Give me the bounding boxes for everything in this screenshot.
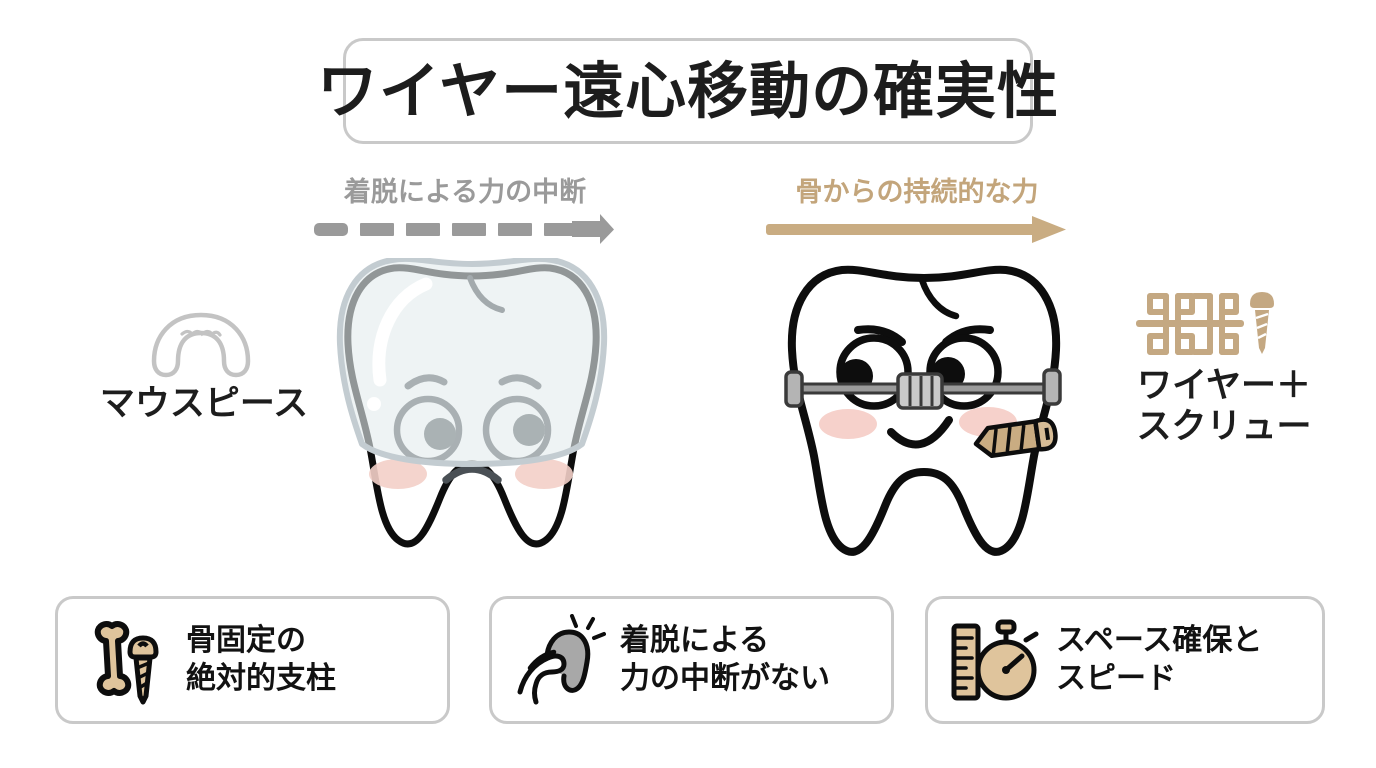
- bracket-wire-screw-icon: [1136, 286, 1276, 362]
- benefit-card-1-text: 骨固定の 絶対的支柱: [186, 622, 336, 699]
- benefit-card-3[interactable]: スペース確保と スピード: [925, 596, 1325, 724]
- bone-screw-icon: [80, 614, 172, 706]
- benefit-card-1-line-1: 骨固定の: [186, 622, 336, 660]
- left-arrow-label: 着脱による力の中断: [300, 178, 630, 208]
- benefit-card-2[interactable]: 着脱による 力の中断がない: [489, 596, 894, 724]
- benefit-card-3-line-1: スペース確保と: [1056, 622, 1262, 660]
- infographic-canvas: ワイヤー遠心移動の確実性 着脱による力の中断 骨からの持続的な力: [0, 0, 1376, 768]
- ruler-stopwatch-icon: [950, 614, 1042, 706]
- benefit-card-1[interactable]: 骨固定の 絶対的支柱: [55, 596, 450, 724]
- right-side-label: ワイヤー＋ スクリュー: [1088, 365, 1360, 448]
- hand-removing-aligner-icon: [514, 614, 606, 706]
- benefit-card-2-line-2: 力の中断がない: [620, 660, 830, 698]
- tooth-with-braces: [778, 262, 1070, 562]
- benefit-card-1-line-2: 絶対的支柱: [186, 660, 336, 698]
- left-arrow-group: 着脱による力の中断: [300, 178, 630, 244]
- benefit-card-2-text: 着脱による 力の中断がない: [620, 622, 830, 699]
- solid-arrow-icon: [766, 214, 1066, 244]
- tooth-with-aligner: [336, 258, 608, 558]
- right-side-label-line-2: スクリュー: [1088, 406, 1360, 447]
- benefit-card-3-line-2: スピード: [1056, 660, 1262, 698]
- right-side-label-line-1: ワイヤー＋: [1088, 365, 1360, 406]
- page-title: ワイヤー遠心移動の確実性: [317, 61, 1059, 122]
- benefit-card-3-text: スペース確保と スピード: [1056, 622, 1262, 699]
- left-side-label: マウスピース: [44, 383, 364, 424]
- left-side-label-line-1: マウスピース: [44, 383, 364, 424]
- right-arrow-group: 骨からの持続的な力: [752, 178, 1082, 244]
- benefit-card-2-line-1: 着脱による: [620, 622, 830, 660]
- aligner-arch-icon: [148, 303, 254, 383]
- dashed-arrow-icon: [314, 214, 614, 244]
- benefit-cards: 骨固定の 絶対的支柱: [0, 596, 1376, 730]
- page-title-box: ワイヤー遠心移動の確実性: [343, 38, 1033, 144]
- right-arrow-label: 骨からの持続的な力: [752, 178, 1082, 208]
